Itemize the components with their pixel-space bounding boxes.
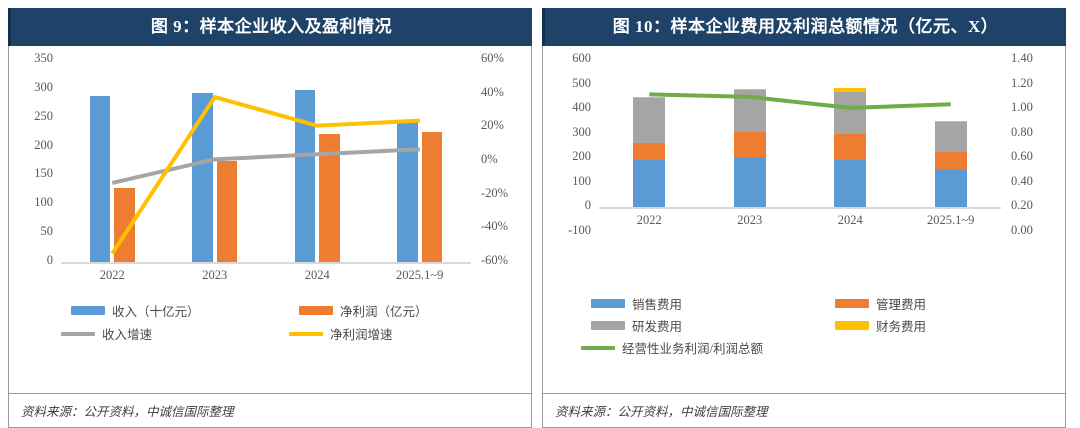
figure-9-source: 资料来源：公开资料，中诚信国际整理: [9, 393, 531, 427]
legend-item[interactable]: 收入增速: [61, 324, 152, 343]
legend-swatch-icon: [835, 299, 869, 308]
x-axis-tick: 2025.1~9: [901, 213, 1002, 228]
figure-9-body: 050100150200250300350-60%-40%-20%0%20%40…: [8, 46, 532, 428]
legend-swatch-icon: [835, 321, 869, 330]
x-axis-tick: 2022: [61, 268, 164, 283]
line-series-layer: [543, 46, 1065, 296]
legend-swatch-icon: [591, 321, 625, 330]
x-axis-tick: 2022: [599, 213, 700, 228]
legend-label: 管理费用: [876, 294, 926, 313]
figure-9-title: 图 9：样本企业收入及盈利情况: [8, 8, 532, 46]
legend-label: 经营性业务利润/利润总额: [622, 338, 763, 357]
figure-10-chart: -10001002003004005006000.000.200.400.600…: [543, 46, 1065, 296]
x-axis-tick: 2024: [800, 213, 901, 228]
figure-9-chart: 050100150200250300350-60%-40%-20%0%20%40…: [9, 46, 531, 296]
legend-item[interactable]: 研发费用: [591, 316, 682, 335]
line-series: [112, 149, 420, 183]
legend-label: 净利润增速: [330, 324, 393, 343]
figure-10-title: 图 10：样本企业费用及利润总额情况（亿元、X）: [542, 8, 1066, 46]
legend-swatch-icon: [299, 306, 333, 315]
figure-9-panel: 图 9：样本企业收入及盈利情况 050100150200250300350-60…: [8, 8, 532, 428]
figure-10-body: -10001002003004005006000.000.200.400.600…: [542, 46, 1066, 428]
line-series: [112, 97, 420, 254]
legend-label: 净利润（亿元）: [340, 301, 428, 320]
x-axis-tick: 2024: [266, 268, 369, 283]
legend-label: 研发费用: [632, 316, 682, 335]
figure-10-panel: 图 10：样本企业费用及利润总额情况（亿元、X） -10001002003004…: [542, 8, 1066, 428]
legend-item[interactable]: 管理费用: [835, 294, 926, 313]
line-series-layer: [9, 46, 531, 296]
legend-item[interactable]: 财务费用: [835, 316, 926, 335]
legend-swatch-icon: [71, 306, 105, 315]
legend-item[interactable]: 经营性业务利润/利润总额: [581, 338, 763, 357]
legend-label: 销售费用: [632, 294, 682, 313]
legend-item[interactable]: 销售费用: [591, 294, 682, 313]
legend-label: 财务费用: [876, 316, 926, 335]
x-axis-tick: 2025.1~9: [369, 268, 472, 283]
figures-page: 图 9：样本企业收入及盈利情况 050100150200250300350-60…: [0, 0, 1080, 428]
legend-swatch-icon: [581, 346, 615, 350]
legend-swatch-icon: [289, 332, 323, 336]
legend-swatch-icon: [61, 332, 95, 336]
line-series: [649, 94, 951, 108]
legend-swatch-icon: [591, 299, 625, 308]
legend-label: 收入（十亿元）: [112, 301, 200, 320]
legend-item[interactable]: 净利润增速: [289, 324, 393, 343]
legend-label: 收入增速: [102, 324, 152, 343]
legend-item[interactable]: 收入（十亿元）: [71, 301, 200, 320]
x-axis-tick: 2023: [164, 268, 267, 283]
x-axis-tick: 2023: [700, 213, 801, 228]
figure-10-source: 资料来源：公开资料，中诚信国际整理: [543, 393, 1065, 427]
legend-item[interactable]: 净利润（亿元）: [299, 301, 428, 320]
